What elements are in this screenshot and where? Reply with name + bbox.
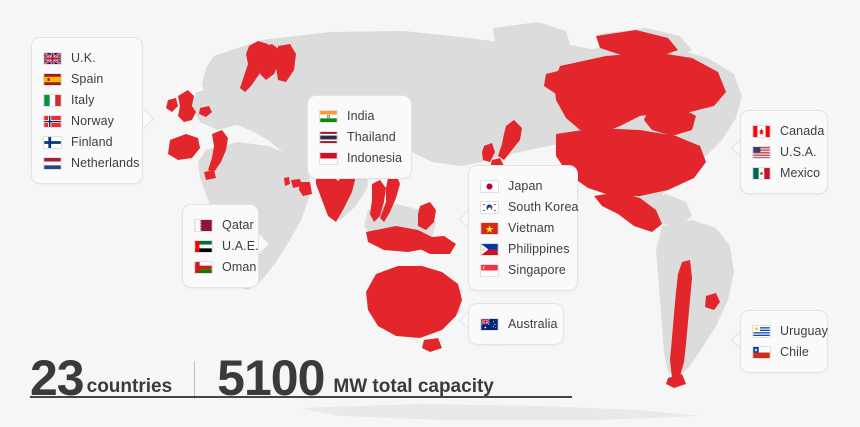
vn-flag-icon (480, 222, 499, 235)
stat-capacity-value: 5100 (217, 354, 324, 402)
callout-entry-label: Italy (71, 93, 94, 107)
callout-entry[interactable]: Chile (752, 342, 813, 362)
callout-entry[interactable]: Vietnam (480, 218, 563, 238)
callout-entry[interactable]: Norway (43, 111, 128, 131)
callout-entry-label: Spain (71, 72, 103, 86)
callout-entry[interactable]: Qatar (194, 215, 244, 235)
callout-entry[interactable]: Australia (480, 314, 549, 334)
uy-flag-icon (752, 325, 771, 338)
cl-flag-icon (752, 346, 771, 359)
callout-entry[interactable]: Uruguay (752, 321, 813, 341)
callout-entry[interactable]: Philippines (480, 239, 563, 259)
callout-entry-label: Netherlands (71, 156, 140, 170)
callout-south-asia[interactable]: India Thailand Indonesia (307, 95, 412, 179)
callout-entry-label: Norway (71, 114, 114, 128)
ca-flag-icon (752, 125, 771, 138)
callout-entry[interactable]: U.S.A. (752, 142, 813, 162)
callout-entry[interactable]: Thailand (319, 127, 397, 147)
id-flag-icon (319, 152, 338, 165)
callout-entry-label: Qatar (222, 218, 254, 232)
callout-entry-label: Finland (71, 135, 113, 149)
summary-stats: 23 countries 5100 MW total capacity (30, 336, 590, 402)
callout-entry[interactable]: Oman (194, 257, 244, 277)
callout-entry[interactable]: U.A.E. (194, 236, 244, 256)
callout-entry-label: Thailand (347, 130, 396, 144)
es-flag-icon (43, 73, 62, 86)
sg-flag-icon (480, 264, 499, 277)
callout-entry[interactable]: India (319, 106, 397, 126)
callout-entry[interactable]: Finland (43, 132, 128, 152)
callout-north-america[interactable]: Canada U.S.A. (740, 110, 828, 194)
callout-entry-label: South Korea (508, 200, 579, 214)
callout-entry[interactable]: U.K. (43, 48, 128, 68)
in-flag-icon (319, 110, 338, 123)
callout-entry[interactable]: Japan (480, 176, 563, 196)
gb-flag-icon (43, 52, 62, 65)
callout-entry[interactable]: Spain (43, 69, 128, 89)
it-flag-icon (43, 94, 62, 107)
callout-entry-label: Canada (780, 124, 824, 138)
callout-entry-label: Vietnam (508, 221, 554, 235)
ph-flag-icon (480, 243, 499, 256)
callout-entry-label: Philippines (508, 242, 570, 256)
nl-flag-icon (43, 157, 62, 170)
us-flag-icon (752, 146, 771, 159)
callout-entry-label: U.A.E. (222, 239, 259, 253)
callout-entry-label: Uruguay (780, 324, 828, 338)
callout-entry[interactable]: Mexico (752, 163, 813, 183)
jp-flag-icon (480, 180, 499, 193)
stats-divider (194, 361, 195, 399)
callout-south-america[interactable]: Uruguay Chile (740, 310, 828, 373)
qa-flag-icon (194, 219, 213, 232)
map-country-singapore (378, 237, 384, 243)
callout-entry-label: India (347, 109, 375, 123)
callout-entry-label: Indonesia (347, 151, 402, 165)
callout-middle-east[interactable]: Qatar U.A.E. Oma (182, 204, 259, 288)
callout-entry[interactable]: Indonesia (319, 148, 397, 168)
stat-countries: 23 countries (30, 354, 172, 402)
stat-countries-value: 23 (30, 354, 84, 402)
au-flag-icon (480, 318, 499, 331)
callout-entry-label: Australia (508, 317, 558, 331)
callout-entry-label: Oman (222, 260, 256, 274)
stat-capacity: 5100 MW total capacity (217, 354, 494, 402)
callout-entry-label: Chile (780, 345, 809, 359)
callout-entry[interactable]: Italy (43, 90, 128, 110)
fi-flag-icon (43, 136, 62, 149)
callout-entry-label: U.K. (71, 51, 96, 65)
callout-entry[interactable]: Singapore (480, 260, 563, 280)
no-flag-icon (43, 115, 62, 128)
callout-entry[interactable]: South Korea (480, 197, 563, 217)
ae-flag-icon (194, 240, 213, 253)
callout-east-asia[interactable]: Japan South Korea (468, 165, 578, 291)
stats-rule (30, 396, 572, 398)
kr-flag-icon (480, 201, 499, 214)
callout-entry-label: Japan (508, 179, 543, 193)
callout-entry-label: U.S.A. (780, 145, 817, 159)
callout-entry[interactable]: Canada (752, 121, 813, 141)
om-flag-icon (194, 261, 213, 274)
callout-entry-label: Mexico (780, 166, 820, 180)
callout-entry[interactable]: Netherlands (43, 153, 128, 173)
callout-entry-label: Singapore (508, 263, 566, 277)
callout-europe[interactable]: U.K. Spain Italy (31, 37, 143, 184)
mx-flag-icon (752, 167, 771, 180)
th-flag-icon (319, 131, 338, 144)
